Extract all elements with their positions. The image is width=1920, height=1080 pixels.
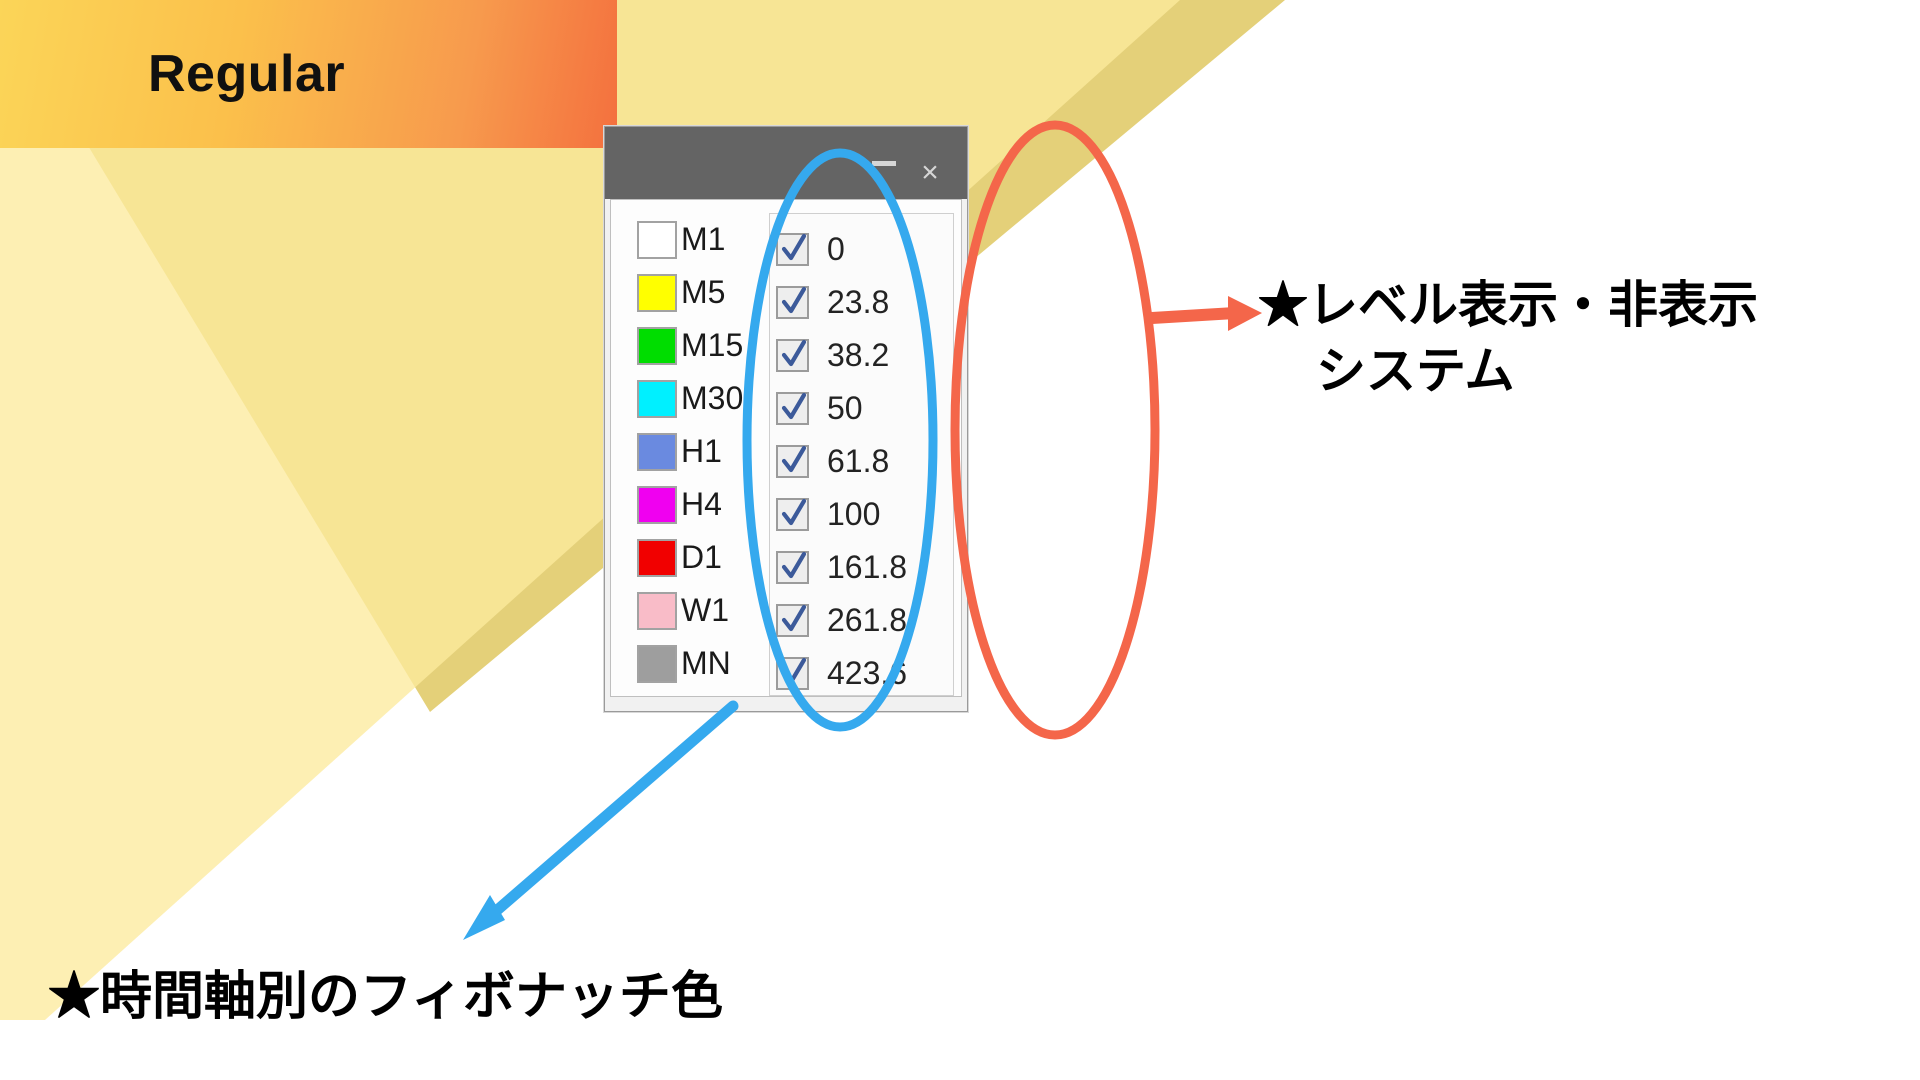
color-swatch-m30[interactable] [637, 380, 677, 418]
annotation-right: ★レベル表示・非表示 システム [1258, 272, 1758, 404]
level-checkbox-50[interactable] [776, 392, 809, 425]
level-row[interactable]: 0 [776, 223, 953, 276]
timeframe-row[interactable]: M1 [637, 213, 761, 266]
level-value: 100 [827, 496, 880, 533]
timeframe-label: M1 [681, 221, 725, 258]
level-value: 50 [827, 390, 863, 427]
timeframe-row[interactable]: MN [637, 637, 761, 690]
level-value: 423.6 [827, 655, 907, 692]
timeframe-label: M30 [681, 380, 743, 417]
timeframe-row[interactable]: M30 [637, 372, 761, 425]
annotation-right-line1: ★レベル表示・非表示 [1258, 272, 1758, 338]
timeframe-label: H1 [681, 433, 722, 470]
timeframe-row[interactable]: M15 [637, 319, 761, 372]
level-checkbox-61-8[interactable] [776, 445, 809, 478]
level-checkbox-100[interactable] [776, 498, 809, 531]
color-swatch-d1[interactable] [637, 539, 677, 577]
level-row[interactable]: 161.8 [776, 541, 953, 594]
timeframe-label: M5 [681, 274, 725, 311]
level-checkbox-423-6[interactable] [776, 657, 809, 690]
color-swatch-h4[interactable] [637, 486, 677, 524]
page-title: Regular [148, 44, 345, 104]
fibonacci-settings-window[interactable]: × M1 M5 M15 M30 H1 [604, 126, 968, 712]
level-row[interactable]: 100 [776, 488, 953, 541]
annotation-right-line2: システム [1316, 338, 1758, 404]
level-value: 38.2 [827, 337, 889, 374]
level-row[interactable]: 261.8 [776, 594, 953, 647]
color-swatch-mn[interactable] [637, 645, 677, 683]
annotation-bottom: ★時間軸別のフィボナッチ色 [48, 954, 723, 1029]
timeframe-row[interactable]: H1 [637, 425, 761, 478]
level-checkbox-161-8[interactable] [776, 551, 809, 584]
timeframe-row[interactable]: H4 [637, 478, 761, 531]
title-banner: Regular [0, 0, 617, 148]
level-row[interactable]: 423.6 [776, 647, 953, 700]
level-value: 261.8 [827, 602, 907, 639]
level-value: 23.8 [827, 284, 889, 321]
level-value: 61.8 [827, 443, 889, 480]
level-checkbox-38-2[interactable] [776, 339, 809, 372]
window-body: M1 M5 M15 M30 H1 H4 [610, 199, 962, 697]
level-checkbox-261-8[interactable] [776, 604, 809, 637]
timeframe-label: W1 [681, 592, 729, 629]
timeframe-row[interactable]: W1 [637, 584, 761, 637]
level-row[interactable]: 61.8 [776, 435, 953, 488]
close-icon[interactable]: × [907, 155, 953, 191]
level-value: 161.8 [827, 549, 907, 586]
timeframe-row[interactable]: M5 [637, 266, 761, 319]
color-swatch-m5[interactable] [637, 274, 677, 312]
window-titlebar[interactable]: × [605, 127, 967, 199]
level-value: 0 [827, 231, 845, 268]
timeframe-row[interactable]: D1 [637, 531, 761, 584]
color-swatch-h1[interactable] [637, 433, 677, 471]
level-checkbox-23-8[interactable] [776, 286, 809, 319]
level-row[interactable]: 23.8 [776, 276, 953, 329]
level-row[interactable]: 50 [776, 382, 953, 435]
color-swatch-m1[interactable] [637, 221, 677, 259]
level-checkbox-0[interactable] [776, 233, 809, 266]
timeframe-color-list: M1 M5 M15 M30 H1 H4 [611, 213, 761, 696]
color-swatch-m15[interactable] [637, 327, 677, 365]
color-swatch-w1[interactable] [637, 592, 677, 630]
timeframe-label: D1 [681, 539, 722, 576]
timeframe-label: M15 [681, 327, 743, 364]
timeframe-label: H4 [681, 486, 722, 523]
minimize-icon[interactable] [861, 145, 907, 191]
timeframe-label: MN [681, 645, 731, 682]
level-visibility-group: 0 23.8 38.2 50 [769, 213, 954, 696]
level-row[interactable]: 38.2 [776, 329, 953, 382]
